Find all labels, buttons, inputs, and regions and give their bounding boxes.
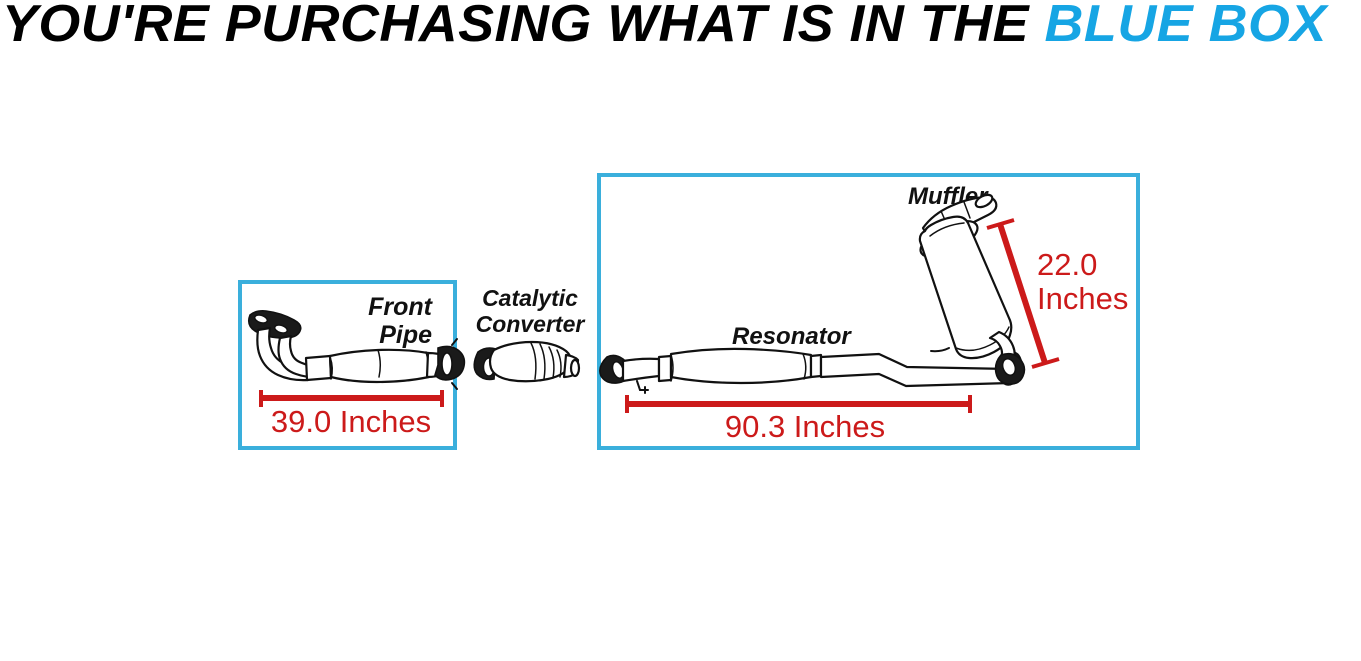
label-front-pipe: Front Pipe <box>296 293 432 349</box>
catalytic-converter-drawing <box>474 342 579 381</box>
dimension-label-muffler: 22.0 Inches <box>1037 248 1141 316</box>
page-title-lead: YOU'RE PURCHASING WHAT IS IN THE <box>2 0 1045 53</box>
label-resonator: Resonator <box>732 324 851 351</box>
header-banner: YOU'RE PURCHASING WHAT IS IN THE BLUE BO… <box>0 0 1361 56</box>
page-title: YOU'RE PURCHASING WHAT IS IN THE BLUE BO… <box>2 0 1327 52</box>
page-title-highlight: BLUE BOX <box>1045 0 1327 53</box>
dimension-label-front-pipe: 39.0 Inches <box>258 405 444 439</box>
label-muffler: Muffler <box>908 184 988 211</box>
label-catalytic-converter: Catalytic Converter <box>455 286 605 338</box>
dimension-label-resonator: 90.3 Inches <box>640 410 970 444</box>
